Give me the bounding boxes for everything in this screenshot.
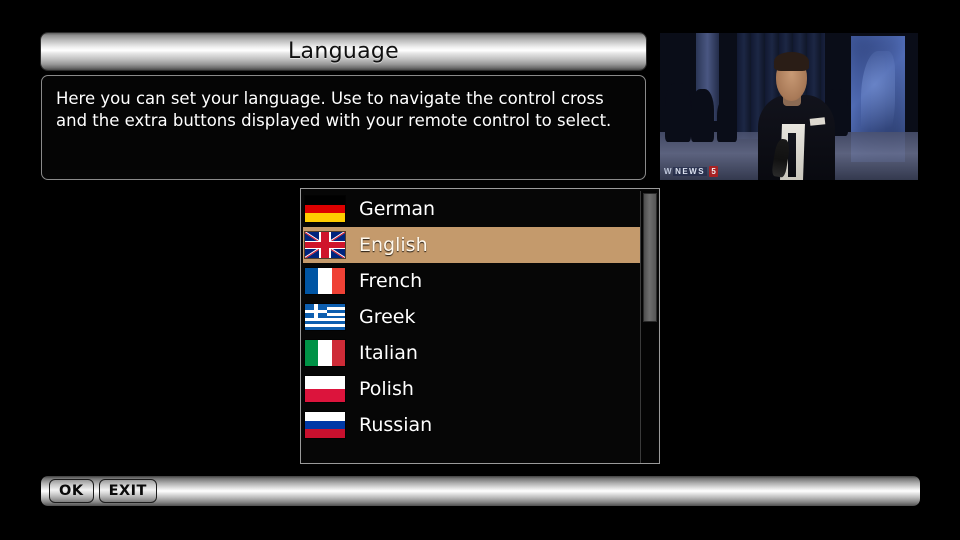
list-item-label: Polish	[359, 378, 414, 400]
list-item-label: Italian	[359, 342, 418, 364]
tv-settings-screen: Language Here you can set your language.…	[0, 0, 960, 540]
flag-germany-icon	[305, 196, 345, 222]
window-title-bar: Language	[41, 33, 646, 70]
list-item-label: English	[359, 234, 428, 256]
channel-logo-prefix: W	[664, 167, 671, 176]
channel-logo-badge: 5	[709, 166, 718, 177]
list-item[interactable]: Russian	[303, 407, 641, 443]
list-item[interactable]: French	[303, 263, 641, 299]
flag-greece-icon	[305, 304, 345, 330]
exit-button[interactable]: EXIT	[99, 479, 157, 503]
list-item-label: Russian	[359, 414, 432, 436]
channel-logo: W NEWS 5	[664, 166, 718, 177]
description-text: Here you can set your language. Use to n…	[56, 88, 631, 132]
video-preview[interactable]: W NEWS 5	[660, 33, 918, 180]
ok-button[interactable]: OK	[49, 479, 94, 503]
flag-france-icon	[305, 268, 345, 294]
list-item-selected[interactable]: English	[303, 227, 641, 263]
flag-russia-icon	[305, 412, 345, 438]
flag-poland-icon	[305, 376, 345, 402]
language-list-panel: German English French	[300, 188, 660, 464]
page-title: Language	[288, 39, 399, 64]
description-panel: Here you can set your language. Use to n…	[41, 75, 646, 180]
list-item[interactable]: Italian	[303, 335, 641, 371]
list-item[interactable]: Greek	[303, 299, 641, 335]
language-list[interactable]: German English French	[303, 191, 641, 463]
list-item-label: German	[359, 198, 435, 220]
list-item-label: Greek	[359, 306, 416, 328]
list-item-label: French	[359, 270, 422, 292]
flag-united-kingdom-icon	[305, 232, 345, 258]
list-item[interactable]: Polish	[303, 371, 641, 407]
video-crowd	[665, 83, 691, 142]
list-scrollbar-thumb[interactable]	[643, 193, 657, 322]
list-item[interactable]: German	[303, 191, 641, 227]
bottom-toolbar: OK EXIT	[41, 476, 920, 506]
list-scrollbar[interactable]	[640, 191, 658, 463]
flag-italy-icon	[305, 340, 345, 366]
video-person-hair	[774, 52, 809, 71]
channel-logo-text: NEWS	[673, 167, 707, 176]
video-crowd	[717, 98, 738, 142]
video-crowd	[691, 89, 714, 142]
video-person-tie	[788, 133, 796, 177]
